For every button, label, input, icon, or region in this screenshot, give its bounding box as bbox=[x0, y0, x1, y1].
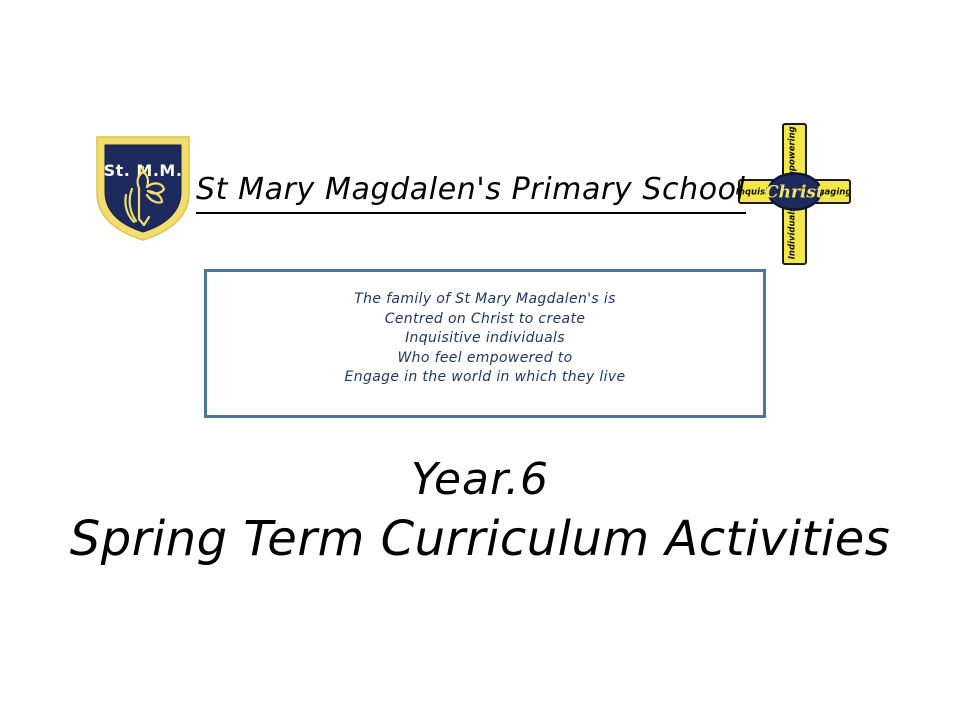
christ-cross-logo: Empowering Individuals Inquisitive Engag… bbox=[733, 120, 855, 268]
mission-line-4: Who feel empowered to bbox=[207, 349, 763, 369]
cross-center-label: Christ bbox=[765, 183, 824, 203]
mission-line-5: Engage in the world in which they live bbox=[207, 368, 763, 388]
mission-statement-text: The family of St Mary Magdalen's is Cent… bbox=[207, 290, 763, 388]
mission-line-1: The family of St Mary Magdalen's is bbox=[207, 290, 763, 310]
term-subject-label: Spring Term Curriculum Activities bbox=[0, 508, 960, 570]
mission-line-2: Centred on Christ to create bbox=[207, 310, 763, 330]
cross-arm-bottom-label: Individuals bbox=[788, 207, 798, 260]
slide-title-block: Year.6 Spring Term Curriculum Activities bbox=[0, 452, 960, 570]
school-crest: St. M.M. bbox=[92, 131, 194, 243]
school-name-text: St Mary Magdalen's Primary School bbox=[196, 172, 746, 214]
mission-statement-box: The family of St Mary Magdalen's is Cent… bbox=[204, 269, 766, 418]
year-group-label: Year.6 bbox=[0, 452, 960, 508]
mission-line-3: Inquisitive individuals bbox=[207, 329, 763, 349]
page-title: St Mary Magdalen's Primary School bbox=[196, 172, 736, 214]
slide-canvas: St. M.M. Empowering Individuals Inquisit… bbox=[0, 0, 960, 720]
